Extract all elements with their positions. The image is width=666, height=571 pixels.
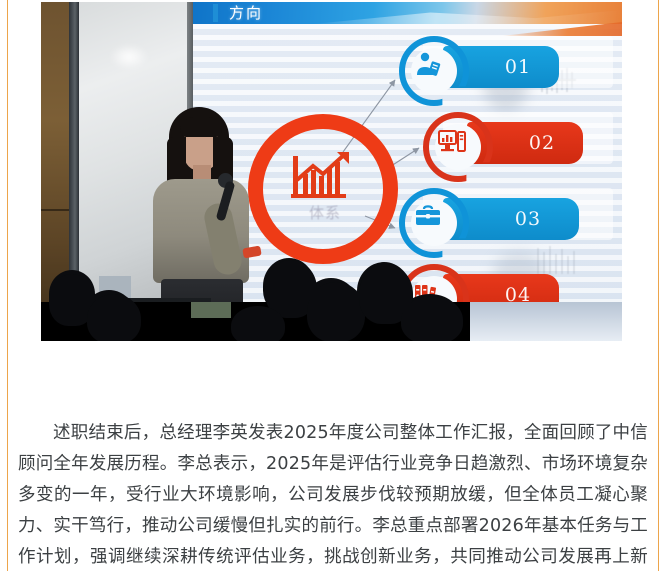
briefcase-icon xyxy=(413,202,443,232)
audience-head xyxy=(401,296,463,341)
step-number: 04 xyxy=(505,284,531,302)
slide-step-01: 01 xyxy=(399,36,559,94)
article-page: 方向 xyxy=(0,0,666,571)
step-number: 03 xyxy=(515,208,541,230)
step-number: 02 xyxy=(529,132,555,154)
audience-head xyxy=(87,294,141,341)
presenter-bangs xyxy=(180,117,222,137)
projected-slide: 方向 xyxy=(193,2,622,302)
monitor-chart-icon xyxy=(437,126,467,156)
page-left-rule xyxy=(7,0,8,571)
slide-step-02: 02 xyxy=(423,112,583,170)
bar-chart-growth-icon xyxy=(289,150,359,200)
article-paragraph: 述职结束后，总经理李英发表2025年度公司整体工作汇报，全面回顾了中信顾问全年发… xyxy=(18,418,648,571)
person-document-icon xyxy=(413,50,443,80)
hub-caption: 体系 xyxy=(265,202,385,223)
slide-step-03: 03 xyxy=(399,188,579,246)
audience-head xyxy=(307,282,365,341)
page-right-rule xyxy=(658,0,659,571)
presentation-photo: 方向 xyxy=(41,2,622,341)
foreground-object xyxy=(191,302,231,318)
foreground-right-wall xyxy=(470,302,622,341)
audience-head xyxy=(231,306,285,341)
step-number: 01 xyxy=(505,56,531,78)
